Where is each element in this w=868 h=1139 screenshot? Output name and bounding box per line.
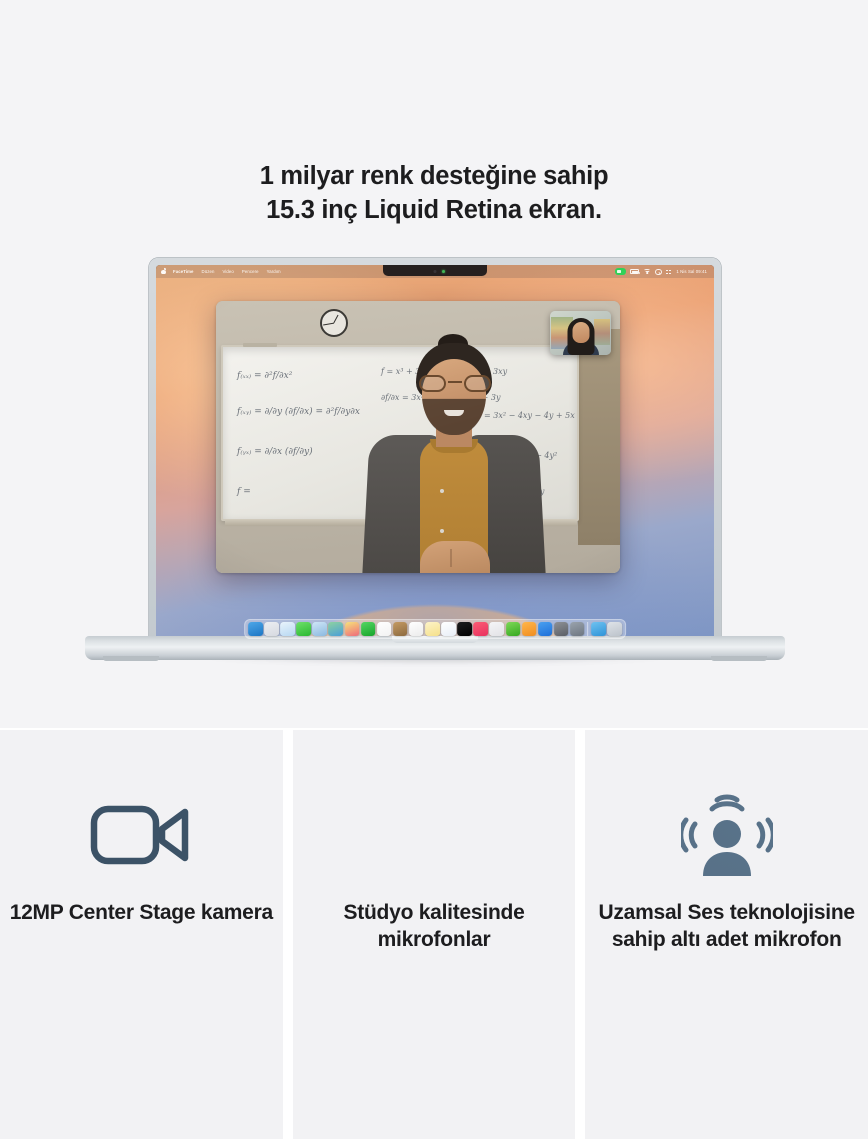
menu-item-video[interactable]: Video [222, 269, 233, 274]
product-feature-page: 1 milyar renk desteğine sahip 15.3 inç L… [0, 0, 868, 1139]
dock-item-calendar[interactable] [377, 622, 392, 637]
wifi-icon[interactable] [644, 269, 651, 274]
feature-card-camera: 12MP Center Stage kamera [0, 730, 283, 1139]
laptop-lid: FaceTime Düzen Video Pencere Yardım 1 Ni… [149, 258, 721, 641]
laptop-foot-right [711, 656, 767, 661]
dock-item-system-settings[interactable] [554, 622, 569, 637]
feature-label-camera: 12MP Center Stage kamera [6, 900, 277, 927]
headline-line-1: 1 milyar renk desteğine sahip [260, 162, 608, 190]
menu-item-pencere[interactable]: Pencere [242, 269, 259, 274]
video-camera-icon [90, 792, 192, 878]
dock-item-notes[interactable] [425, 622, 440, 637]
dock-item-reminders[interactable] [409, 622, 424, 637]
feature-label-microphones: Stüdyo kalitesinde mikrofonlar [293, 900, 576, 954]
dock-item-photos[interactable] [345, 622, 360, 637]
feature-label-spatial-audio: Uzamsal Ses teknolojisine sahip altı ade… [585, 900, 868, 954]
dock-item-freeform[interactable] [441, 622, 456, 637]
feature-cards: 12MP Center Stage kamera [0, 730, 868, 1139]
dock-item-music[interactable] [473, 622, 488, 637]
facetime-call-window[interactable]: f₍ₓₓ₎ = ∂²f/∂x² f₍ₓᵧ₎ = ∂/∂y (∂f/∂x) = ∂… [216, 301, 620, 573]
feature-card-spatial-audio: Uzamsal Ses teknolojisine sahip altı ade… [585, 730, 868, 1139]
battery-icon[interactable] [630, 269, 639, 274]
dock-item-trash[interactable] [607, 622, 622, 637]
macos-dock[interactable] [244, 619, 626, 639]
macbook-air-device: FaceTime Düzen Video Pencere Yardım 1 Ni… [85, 258, 785, 678]
dock-item-launchpad[interactable] [264, 622, 279, 637]
dock-separator [588, 622, 589, 636]
menu-item-facetime[interactable]: FaceTime [173, 269, 194, 274]
camera-in-use-indicator-icon [615, 268, 626, 274]
page-title: 1 milyar renk desteğine sahip 15.3 inç L… [0, 160, 868, 228]
dock-item-numbers[interactable] [506, 622, 521, 637]
dock-item-safari[interactable] [280, 622, 295, 637]
dock-item-app-store[interactable] [538, 622, 553, 637]
spotlight-search-icon[interactable] [655, 269, 661, 275]
dock-item-mail[interactable] [313, 622, 328, 637]
apple-logo-icon[interactable] [161, 269, 166, 275]
dock-item-messages[interactable] [296, 622, 311, 637]
self-view-face [572, 322, 589, 343]
laptop-foot-left [103, 656, 159, 661]
self-view-shelf-right [594, 319, 610, 345]
hero-section: 1 milyar renk desteğine sahip 15.3 inç L… [0, 0, 868, 728]
dock-item-finder[interactable] [248, 622, 263, 637]
dock-item-contacts[interactable] [393, 622, 408, 637]
dock-item-downloads-folder[interactable] [591, 622, 606, 637]
dock-item-apple-tv[interactable] [457, 622, 472, 637]
menu-bar-clock[interactable]: 1 Nis Sal 09:41 [676, 269, 707, 274]
menu-item-yardim[interactable]: Yardım [267, 269, 281, 274]
laptop-screen: FaceTime Düzen Video Pencere Yardım 1 Ni… [156, 265, 714, 641]
headline-line-2: 15.3 inç Liquid Retina ekran. [0, 194, 868, 228]
menu-item-duzen[interactable]: Düzen [202, 269, 215, 274]
dock-item-maps[interactable] [329, 622, 344, 637]
control-center-icon[interactable] [666, 269, 672, 275]
feature-card-microphones: Stüdyo kalitesinde mikrofonlar [293, 730, 576, 1139]
menu-bar-status-area: 1 Nis Sal 09:41 [615, 268, 709, 274]
dock-item-facetime[interactable] [361, 622, 376, 637]
dock-item-pages[interactable] [522, 622, 537, 637]
macos-menu-bar[interactable]: FaceTime Düzen Video Pencere Yardım 1 Ni… [156, 265, 714, 278]
audio-waveform-icon [391, 792, 477, 878]
dock-item-news[interactable] [490, 622, 505, 637]
spatial-audio-icon [681, 792, 773, 878]
self-view-thumbnail[interactable] [550, 311, 611, 355]
dock-item-photo-booth[interactable] [570, 622, 585, 637]
